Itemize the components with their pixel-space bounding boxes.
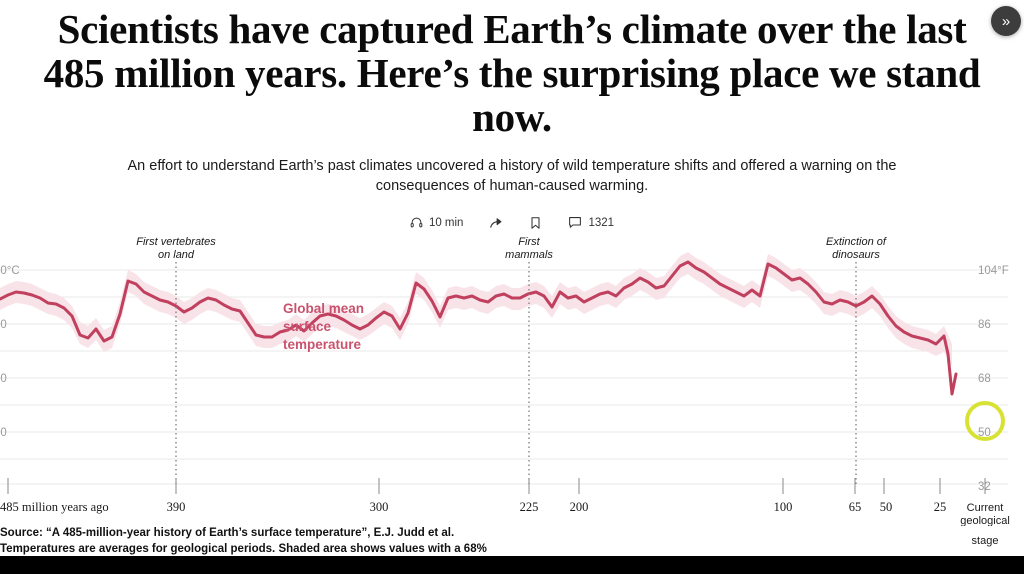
browser-bottom-chrome — [0, 556, 1024, 574]
y-right-tick-4: 32 — [978, 481, 991, 493]
page-title: Scientists have captured Earth’s climate… — [40, 4, 984, 140]
climate-chart: 40°C 30 20 10 104°F 86 68 50 32 4 — [0, 226, 1024, 526]
y-left-tick-2: 20 — [0, 373, 7, 385]
next-article-button[interactable]: » — [991, 6, 1021, 36]
chart-canvas: 40°C 30 20 10 104°F 86 68 50 32 4 — [0, 226, 1024, 526]
x-tick-current-line2: geological — [960, 515, 1010, 526]
x-tick-current-line3: stage — [952, 535, 1018, 547]
x-tick-25: 25 — [934, 500, 947, 514]
y-right-tick-1: 86 — [978, 319, 991, 331]
x-tick-100: 100 — [774, 500, 793, 514]
x-tick-current-line1: Current — [967, 502, 1004, 514]
y-right-tick-0: 104°F — [978, 265, 1009, 277]
y-right-tick-3: 50 — [978, 427, 991, 439]
article-summary: An effort to understand Earth’s past cli… — [112, 156, 912, 197]
annotation-first-mammals: First mammals — [484, 236, 574, 263]
chart-uncertainty-band — [0, 252, 952, 366]
annotation-first-vertebrates: First vertebrates on land — [116, 236, 236, 263]
y-left-tick-0: 40°C — [0, 265, 20, 277]
y-left-tick-1: 30 — [0, 319, 7, 331]
x-tick-485: 485 million years ago — [0, 500, 109, 514]
annotation-extinction-dinosaurs: Extinction of dinosaurs — [796, 236, 916, 263]
series-label-global-mean-temperature: Global mean surface temperature — [283, 300, 364, 354]
x-tick-225: 225 — [520, 500, 539, 514]
x-tick-200: 200 — [570, 500, 589, 514]
double-chevron-right-icon: » — [1002, 14, 1010, 29]
x-tick-300: 300 — [370, 500, 389, 514]
x-tick-50: 50 — [880, 500, 893, 514]
x-axis-labels: 485 million years ago 390 300 225 200 10… — [0, 500, 1010, 526]
x-tick-390: 390 — [167, 500, 186, 514]
x-axis-ticks — [8, 478, 985, 494]
y-right-tick-2: 68 — [978, 373, 991, 385]
y-left-tick-3: 10 — [0, 427, 7, 439]
x-tick-65: 65 — [849, 500, 862, 514]
